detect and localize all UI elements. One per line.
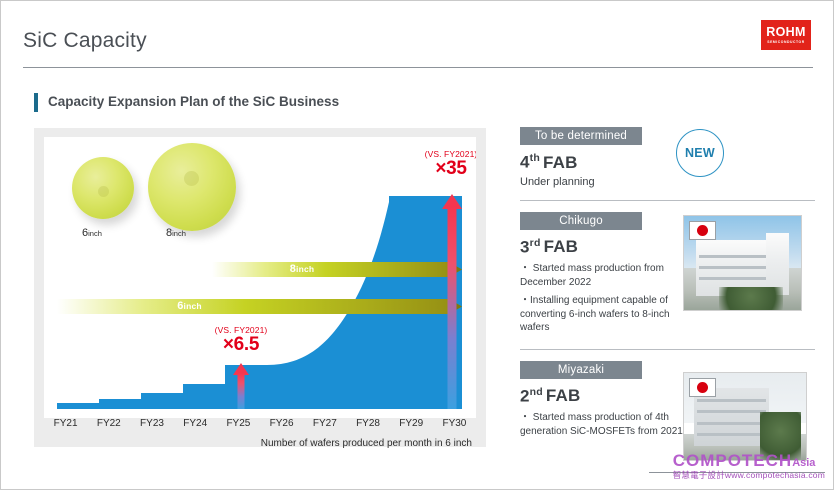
band-8inch: 8inch (212, 262, 462, 277)
growth-arrow-fy30-icon (442, 194, 462, 409)
fab-3rd-photo (683, 215, 802, 311)
band-8inch-label: 8inch (212, 262, 462, 277)
wafer-sphere-6inch (72, 157, 134, 219)
fab-3rd-bullet: ・Installing equipment capable of convert… (520, 294, 688, 335)
growth-arrow-fy25-icon (233, 363, 249, 409)
x-tick: FY29 (390, 418, 433, 436)
band-6inch: 6inch (57, 299, 462, 314)
fab-item-2nd: Miyazaki 2ndFAB ・ Started mass productio… (520, 360, 815, 439)
photo-building-tower (766, 233, 789, 295)
chart-caption: Number of wafers produced per month in 6… (261, 438, 472, 449)
photo-building-floor (697, 410, 767, 413)
japan-flag-icon (689, 221, 716, 240)
x-tick: FY27 (303, 418, 346, 436)
fab-item-4th: To be determined 4thFAB Under planning N… (520, 126, 815, 201)
japan-flag-disc (697, 225, 708, 236)
annotation-fy30-multiplier: ×35 (412, 158, 476, 180)
japan-flag-disc (697, 382, 708, 393)
fab-3rd-ordinal-number: 3 (520, 237, 530, 256)
new-badge: NEW (676, 129, 724, 177)
watermark-subtext: 智慧電子設計www.compotechasia.com (673, 471, 825, 480)
fab-2nd-ordinal-suffix: nd (530, 386, 543, 398)
x-tick: FY26 (260, 418, 303, 436)
watermark: COMPOTECHAsia 智慧電子設計www.compotechasia.co… (673, 452, 825, 480)
fab-3rd-location-badge: Chikugo (520, 212, 642, 230)
wafer-6-unit: inch (88, 229, 102, 238)
fab-4th-subtitle: Under planning (520, 176, 815, 188)
wafer-sphere-8inch (148, 143, 236, 231)
rohm-logo-word: ROHM (766, 26, 805, 39)
chart-plot-area: 6inch 8inch 8inch 6inch (44, 137, 476, 418)
x-tick: FY21 (44, 418, 87, 436)
band-6inch-label: 6inch (57, 299, 462, 314)
rohm-logo-subtext: SEMICONDUCTOR (767, 41, 804, 44)
fab-4th-title: 4thFAB (520, 152, 815, 173)
fab-3rd-fab-word: FAB (544, 237, 579, 256)
x-tick: FY30 (433, 418, 476, 436)
fab-divider (520, 349, 815, 350)
fab-4th-ordinal-suffix: th (530, 152, 540, 164)
photo-building (694, 388, 770, 445)
fab-2nd-bullet: ・ Started mass production of 4th generat… (520, 411, 688, 438)
x-tick: FY28 (346, 418, 389, 436)
photo-building-floor (699, 277, 772, 280)
fab-2nd-fab-word: FAB (546, 386, 581, 405)
growth-arrow-fy30-shaft (448, 207, 457, 409)
chart-x-axis: FY21 FY22 FY23 FY24 FY25 FY26 FY27 FY28 … (44, 418, 476, 436)
fab-2nd-bullets: ・ Started mass production of 4th generat… (520, 411, 688, 438)
photo-trees (719, 287, 783, 310)
fab-3rd-ordinal-suffix: rd (530, 237, 541, 249)
rohm-logo: ROHM SEMICONDUCTOR (761, 20, 811, 50)
photo-building-floor (699, 266, 772, 269)
fab-2nd-ordinal-number: 2 (520, 386, 530, 405)
annotation-fy30: (VS. FY2021) ×35 (412, 149, 476, 180)
fab-4th-fab-word: FAB (543, 153, 578, 172)
fab-item-3rd: Chikugo 3rdFAB ・ Started mass production… (520, 211, 815, 350)
fab-3rd-bullet: ・ Started mass production from December … (520, 262, 688, 289)
x-tick: FY25 (217, 418, 260, 436)
watermark-main-text: COMPOTECH (673, 451, 793, 470)
watermark-asia-text: Asia (792, 457, 815, 469)
wafer-8-unit: inch (172, 229, 186, 238)
x-tick: FY22 (87, 418, 130, 436)
fab-divider (520, 200, 815, 201)
x-tick: FY23 (130, 418, 173, 436)
chart-panel: 6inch 8inch 8inch 6inch (34, 128, 486, 447)
wafer-label-8inch: 8inch (166, 227, 186, 239)
page-title: SiC Capacity (23, 29, 147, 53)
photo-building-floor (699, 255, 772, 258)
annotation-fy25-multiplier: ×6.5 (202, 334, 280, 356)
slide-root: SiC Capacity ROHM SEMICONDUCTOR Capacity… (0, 0, 834, 490)
photo-building-floor (697, 399, 767, 402)
photo-building-floor (697, 433, 767, 436)
x-tick: FY24 (174, 418, 217, 436)
fab-4th-location-badge: To be determined (520, 127, 642, 145)
fab-2nd-location-badge: Miyazaki (520, 361, 642, 379)
fab-3rd-bullets: ・ Started mass production from December … (520, 262, 688, 335)
fab-list: To be determined 4thFAB Under planning N… (520, 126, 815, 446)
section-accent-bar (34, 93, 38, 112)
fab-4th-ordinal-number: 4 (520, 153, 530, 172)
photo-building-floor (697, 422, 767, 425)
watermark-title: COMPOTECHAsia (673, 452, 825, 469)
growth-arrow-fy25-shaft (238, 373, 245, 409)
band-6inch-unit: inch (184, 301, 202, 311)
japan-flag-icon (689, 378, 716, 397)
band-8inch-unit: inch (296, 264, 314, 274)
annotation-fy25: (VS. FY2021) ×6.5 (202, 325, 280, 356)
wafer-label-6inch: 6inch (82, 227, 102, 239)
section-title: Capacity Expansion Plan of the SiC Busin… (48, 94, 339, 109)
fab-2nd-photo (683, 372, 807, 461)
header-divider (23, 67, 813, 68)
